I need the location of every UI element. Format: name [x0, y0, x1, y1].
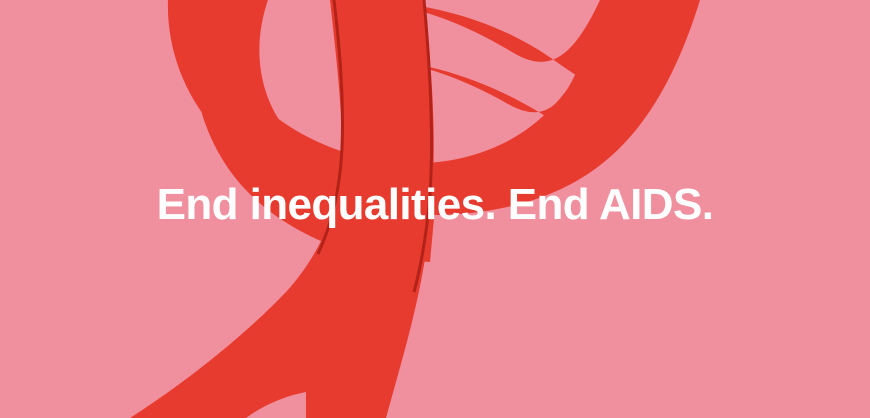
aids-campaign-banner: End inequalities. End AIDS.: [0, 0, 870, 418]
ribbon-illustration: [0, 0, 870, 418]
